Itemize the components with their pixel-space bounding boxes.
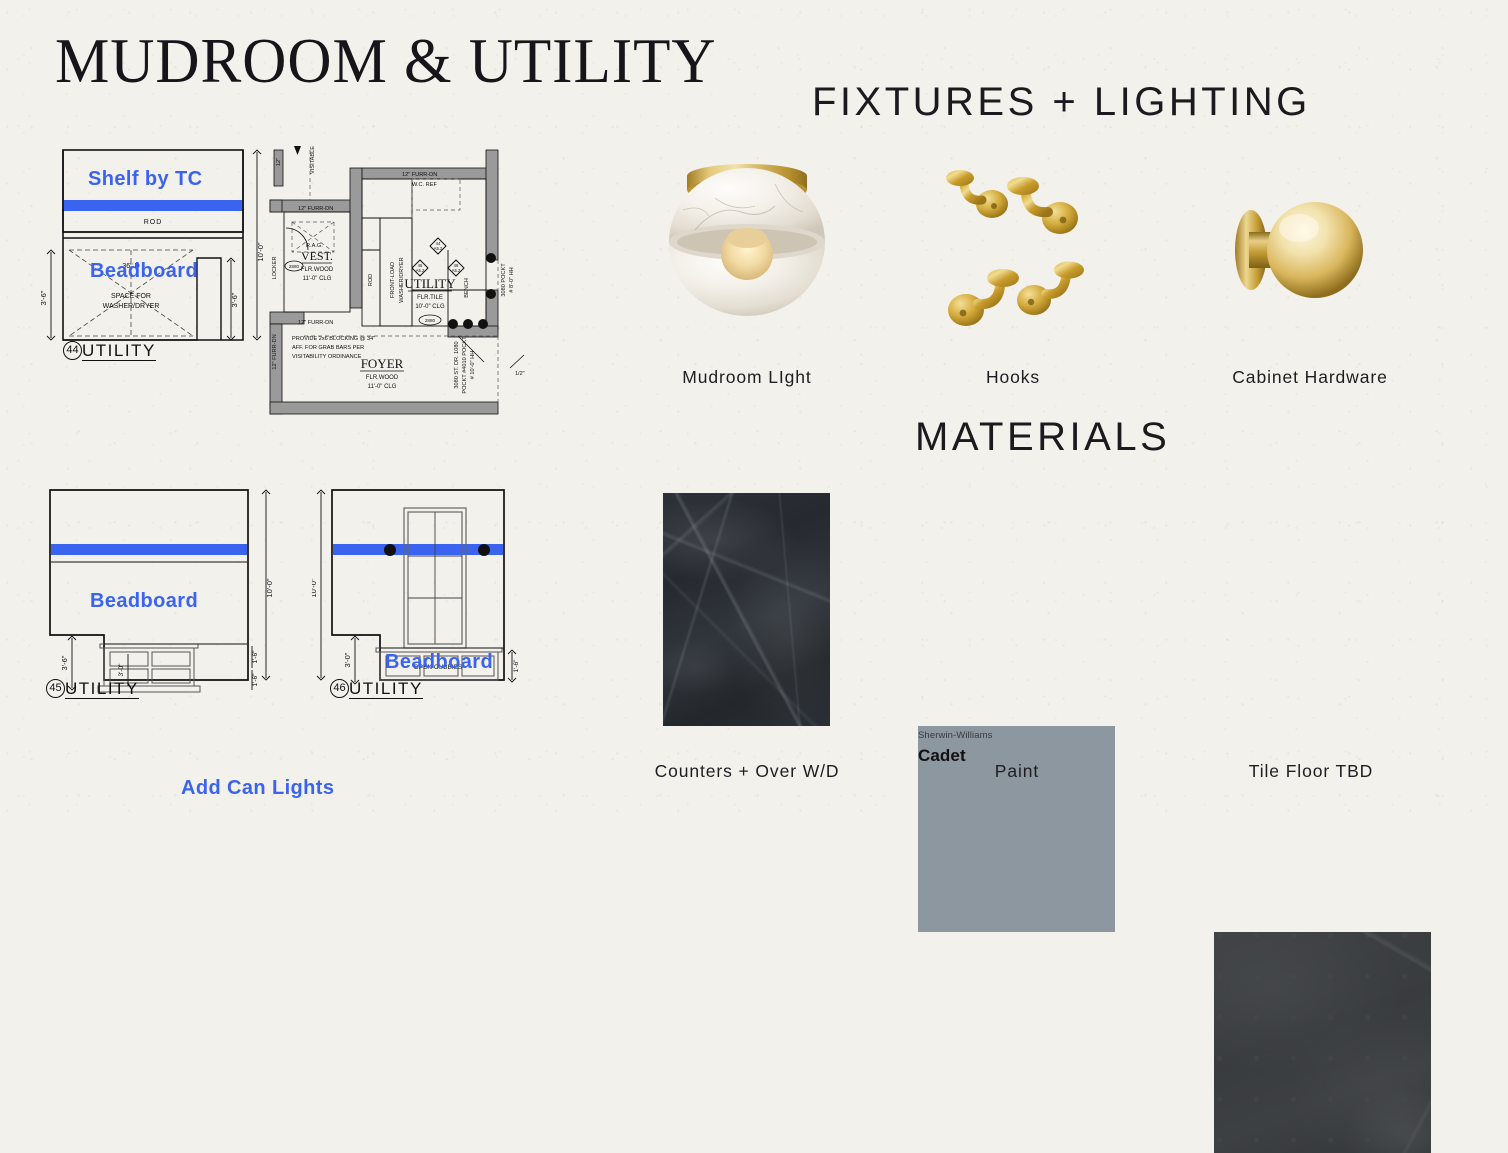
svg-text:1'-6": 1'-6" (252, 673, 259, 687)
section-title-materials: MATERIALS (915, 415, 1170, 460)
svg-text:FLR.WOOD: FLR.WOOD (301, 267, 334, 273)
hook-2 (1007, 177, 1078, 234)
svg-text:2880: 2880 (425, 318, 436, 323)
design-board: MUDROOM & UTILITY FIXTURES + LIGHTING MA… (0, 0, 1508, 830)
shelf-highlight-band (64, 200, 242, 211)
svg-text:ROD: ROD (368, 274, 374, 286)
svg-text:1/2": 1/2" (515, 371, 525, 377)
svg-text:FOYER: FOYER (361, 356, 404, 371)
can-light-dot-right (478, 544, 490, 556)
svg-text:A5.2: A5.2 (452, 268, 461, 273)
svg-text:W.C. REF: W.C. REF (412, 182, 437, 188)
svg-text:10'-0": 10'-0" (312, 578, 318, 597)
svg-text:3080 POCKT: 3080 POCKT (501, 263, 507, 297)
svg-text:10'-0" CLG: 10'-0" CLG (415, 304, 445, 310)
svg-text:12" FURR-DN: 12" FURR-DN (298, 206, 333, 212)
svg-text:SPACE FOR: SPACE FOR (111, 293, 151, 300)
drawing-number-45: 45 (46, 679, 65, 698)
svg-text:1'-6": 1'-6" (252, 650, 259, 664)
brass-knob-icon (1205, 180, 1385, 320)
note-beadboard-45: Beadboard (90, 590, 198, 613)
drawing-name-44: UTILITY (82, 341, 156, 361)
svg-text:2880: 2880 (289, 264, 300, 269)
note-add-can-lights: Add Can Lights (181, 777, 334, 800)
svg-text:POCKT #4010 POCKT: POCKT #4010 POCKT (462, 336, 468, 394)
paint-color-name: Cadet (918, 746, 966, 766)
drawing-number-44: 44 (63, 341, 82, 360)
svg-text:LOCKER: LOCKER (272, 256, 278, 279)
svg-text:3'-6": 3'-6" (230, 292, 239, 307)
svg-text:VEST.: VEST. (301, 249, 333, 263)
svg-text:3'-0": 3'-0" (118, 663, 125, 677)
product-mudroom-light (625, 138, 870, 353)
can-light-dot-left (384, 544, 396, 556)
elevation-drawing-46: OPEN CUBBIES 10'-0" 3'-0" 1'-6" 46UTILIT… (312, 480, 542, 740)
paint-brand-label: Sherwin-Williams (918, 730, 992, 741)
svg-text:FLR.TILE: FLR.TILE (417, 295, 443, 301)
floor-plan-drawing: 44A5.2 45A5.2 46A5.2 VEST. UTILITY FOYER… (262, 140, 527, 430)
svg-text:FLR.WOOD: FLR.WOOD (366, 375, 399, 381)
caption-counters: Counters + Over W/D (655, 761, 840, 782)
hook-3 (948, 269, 1019, 326)
svg-text:ROD: ROD (144, 219, 163, 226)
drawing-name-46: UTILITY (349, 679, 423, 699)
svg-text:3'-6": 3'-6" (60, 655, 69, 670)
svg-text:FRONT-LOAD: FRONT-LOAD (390, 262, 396, 298)
svg-text:R.A.G.: R.A.G. (306, 243, 323, 249)
brass-hooks-icon (930, 150, 1100, 340)
svg-text:12": 12" (276, 158, 282, 166)
svg-text:AFF. FOR GRAB BARS PER: AFF. FOR GRAB BARS PER (292, 345, 364, 351)
svg-text:1'-6": 1'-6" (513, 659, 520, 673)
svg-text:10'-0": 10'-0" (265, 578, 274, 597)
svg-text:VISITABILITY ORDINANCE: VISITABILITY ORDINANCE (292, 354, 362, 360)
svg-text:12" FURR-DN: 12" FURR-DN (298, 320, 333, 326)
hook-4 (1017, 262, 1084, 316)
svg-text:A5.2: A5.2 (434, 246, 443, 251)
svg-text:12" FURR-DN: 12" FURR-DN (272, 334, 278, 369)
svg-text:11'-0" CLG: 11'-0" CLG (368, 384, 397, 390)
page-title: MUDROOM & UTILITY (55, 30, 716, 93)
hook-1 (946, 170, 1008, 218)
svg-text:PROVIDE 2x6 BLOCKING @ 34": PROVIDE 2x6 BLOCKING @ 34" (292, 336, 375, 342)
caption-tile-floor: Tile Floor TBD (1249, 761, 1373, 782)
svg-text:12" FURR-DN: 12" FURR-DN (402, 172, 437, 178)
svg-text:UTILITY: UTILITY (404, 276, 456, 291)
drawing-tag-46: 46UTILITY (330, 678, 423, 699)
drawing-tag-45: 45UTILITY (46, 678, 139, 699)
svg-text:A5.2: A5.2 (416, 268, 425, 273)
product-hooks (930, 150, 1100, 340)
elevation-46-svg: OPEN CUBBIES 10'-0" 3'-0" 1'-6" (312, 480, 542, 740)
note-beadboard-44: Beadboard (90, 260, 198, 283)
swatch-tile-floor (1214, 932, 1431, 1153)
section-title-fixtures: FIXTURES + LIGHTING (812, 80, 1311, 125)
knob-ball (1267, 202, 1363, 298)
product-cabinet-hardware (1205, 180, 1385, 320)
svg-text:3'-6": 3'-6" (39, 290, 48, 305)
flush-mount-light-icon (625, 138, 870, 353)
shelf-highlight-band-46 (333, 544, 503, 555)
caption-paint: Paint (995, 761, 1039, 782)
note-shelf-by-tc: Shelf by TC (88, 168, 202, 191)
caption-hooks: Hooks (986, 367, 1040, 388)
svg-text:# 8'-0" HH: # 8'-0" HH (509, 267, 515, 292)
note-beadboard-46: Beadboard (385, 651, 493, 674)
svg-text:# 10'-0" HH: # 10'-0" HH (470, 351, 476, 380)
svg-text:11'-0" CLG: 11'-0" CLG (303, 276, 332, 282)
caption-mudroom-light: Mudroom LIght (682, 367, 811, 388)
svg-text:WASHER/DRYER: WASHER/DRYER (399, 257, 405, 302)
svg-text:3'-0": 3'-0" (343, 652, 352, 667)
svg-text:WASHER/DRYER: WASHER/DRYER (103, 303, 160, 310)
drawing-tag-44: 44UTILITY (63, 340, 156, 361)
drawing-number-46: 46 (330, 679, 349, 698)
swatch-counters (663, 493, 830, 726)
svg-text:VISITABLE: VISITABLE (310, 146, 316, 174)
floor-plan-svg: 44A5.2 45A5.2 46A5.2 VEST. UTILITY FOYER… (262, 140, 527, 430)
svg-text:3080 ST. DR. 1080: 3080 ST. DR. 1080 (454, 341, 460, 388)
caption-cabinet-hardware: Cabinet Hardware (1232, 367, 1387, 388)
shelf-highlight-band-45 (51, 544, 247, 555)
drawing-name-45: UTILITY (65, 679, 139, 699)
svg-text:BENCH: BENCH (464, 278, 470, 298)
